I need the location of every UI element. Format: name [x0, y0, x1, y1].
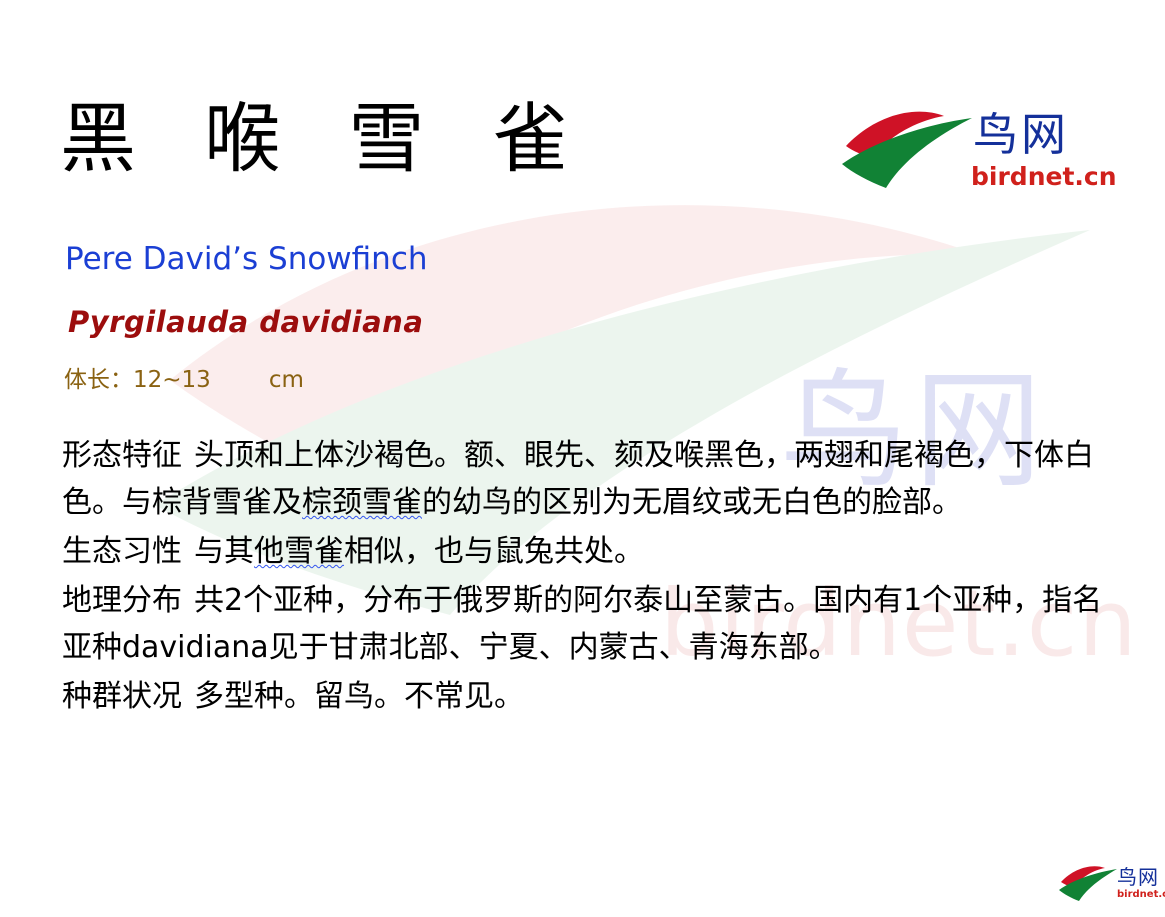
- spellcheck-flagged-text: 棕颈雪雀: [302, 485, 422, 520]
- scientific-name: Pyrgilauda davidiana: [68, 305, 423, 340]
- body-length-line: 体长：12~13cm: [64, 367, 304, 395]
- birdnet-logo-english: birdnet.cn: [971, 164, 1117, 189]
- body-length-unit: cm: [269, 367, 304, 393]
- paragraph-text: 的幼鸟的区别为无眉纹或无白色的脸部。: [422, 485, 962, 520]
- body-length-label: 体长：: [64, 367, 133, 393]
- slide-page: 鸟网 birdnet.cn 黑 喉 雪 雀 Pere David’s Snowf…: [0, 0, 1165, 917]
- paragraph-lead-label: 地理分布: [62, 583, 182, 618]
- description-paragraph: 地理分布共2个亚种，分布于俄罗斯的阿尔泰山至蒙古。国内有1个亚种，指名亚种dav…: [62, 577, 1122, 671]
- birdnet-logo-corner-chinese: 鸟网: [1117, 867, 1159, 887]
- common-name: Pere David’s Snowfinch: [65, 241, 428, 278]
- birdnet-logo-chinese: 鸟网: [973, 112, 1069, 157]
- paragraph-text: 多型种。留鸟。不常见。: [194, 679, 524, 714]
- paragraph-text: 相似，也与鼠兔共处。: [344, 534, 644, 569]
- birdnet-logo-corner[interactable]: 鸟网 birdnet.cn: [1058, 860, 1162, 910]
- paragraph-text: 与其: [194, 534, 254, 569]
- spellcheck-flagged-text: 他雪雀: [254, 534, 344, 569]
- page-title: 黑 喉 雪 雀: [60, 99, 590, 179]
- birdnet-logo-corner-english: birdnet.cn: [1117, 890, 1165, 900]
- paragraph-lead-label: 种群状况: [62, 679, 182, 714]
- paragraph-text: 共2个亚种，分布于俄罗斯的阿尔泰山至蒙古。国内有1个亚种，指名亚种davidia…: [62, 583, 1102, 665]
- description-paragraph: 形态特征头顶和上体沙褐色。额、眼先、颏及喉黑色，两翅和尾褐色，下体白色。与棕背雪…: [62, 432, 1122, 526]
- paragraph-lead-label: 形态特征: [62, 438, 182, 473]
- description-paragraph: 种群状况多型种。留鸟。不常见。: [62, 673, 1122, 720]
- description-paragraph: 生态习性与其他雪雀相似，也与鼠兔共处。: [62, 528, 1122, 575]
- description-block: 形态特征头顶和上体沙褐色。额、眼先、颏及喉黑色，两翅和尾褐色，下体白色。与棕背雪…: [62, 432, 1122, 722]
- birdnet-swoosh-icon: [840, 102, 980, 194]
- birdnet-logo[interactable]: 鸟网 birdnet.cn: [840, 100, 1080, 200]
- birdnet-corner-swoosh-icon: [1058, 862, 1120, 904]
- body-length-value: 12~13: [133, 367, 211, 393]
- paragraph-lead-label: 生态习性: [62, 534, 182, 569]
